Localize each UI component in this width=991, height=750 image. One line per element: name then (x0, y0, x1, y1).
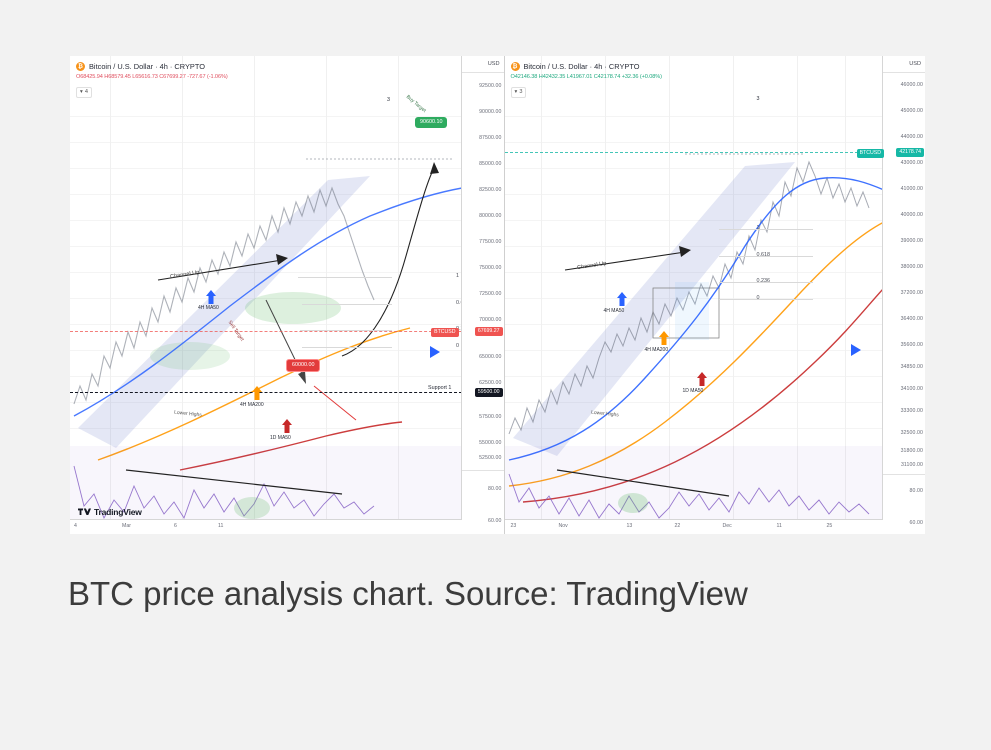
left-price-badge-value: 67699.27 (478, 328, 500, 334)
right-price-badge-value: 42178.74 (899, 149, 921, 155)
right-xtick: Dec (723, 523, 732, 529)
fib-label-0-right: 0 (757, 295, 760, 301)
right-ytick: 35600.00 (901, 342, 923, 348)
left-close: C67699.27 (159, 74, 185, 80)
left-ytick: 62500.00 (479, 380, 501, 386)
ma50-4h-marker-icon (206, 290, 216, 304)
ma50-4h-label: 4H MA50 (198, 305, 219, 311)
right-ohlc-row: O42146.38 H42432.35 L41967.01 C42178.74 … (511, 74, 662, 80)
left-xtick: 4 (74, 523, 77, 529)
right-change-pct: (+0.08%) (640, 74, 662, 80)
left-open: O68425.94 (76, 74, 103, 80)
left-chart-header: ₿ Bitcoin / U.S. Dollar · 4h · CRYPTO O6… (76, 62, 228, 98)
right-symbol-text: Bitcoin / U.S. Dollar · 4h · CRYPTO (524, 62, 640, 71)
right-ytick: 45000.00 (901, 108, 923, 114)
ma200-4h-label-right: 4H MA200 (645, 347, 669, 353)
right-open: O42146.38 (511, 74, 538, 80)
right-price-axis[interactable]: USD 46000.00 45000.00 44000.00 43000.00 … (882, 56, 925, 534)
left-ytick: 92500.00 (479, 83, 501, 89)
tradingview-chart-image: 1 0.618 0.236 0 Channel Up Lower Highs 3… (70, 56, 925, 534)
left-ytick: 72500.00 (479, 291, 501, 297)
right-ytick: 43000.00 (901, 160, 923, 166)
tradingview-watermark: TradingView (78, 507, 142, 517)
right-xtick: 13 (627, 523, 633, 529)
left-ytick: 85000.00 (479, 161, 501, 167)
left-ytick: 52500.00 (479, 455, 501, 461)
left-change: -727.67 (187, 74, 205, 80)
right-price-badge[interactable]: BTCUSD 42178.74 (896, 148, 924, 157)
left-ytick: 82500.00 (479, 187, 501, 193)
ma200-4h-marker-icon (252, 386, 262, 400)
left-ytick: 77500.00 (479, 239, 501, 245)
bitcoin-icon: ₿ (511, 62, 520, 71)
fib-label-1-right: 1 (757, 225, 760, 231)
ma50-1d-marker-icon (282, 419, 292, 433)
fib-label-1: 1 (456, 273, 459, 279)
right-chart-plot[interactable]: 1 0.618 0.236 0 Channel Up Lower Highs 3… (505, 56, 884, 534)
left-price-badge-symbol: BTCUSD (431, 328, 458, 337)
left-price-axis[interactable]: USD 92500.00 90000.00 87500.00 85000.00 … (461, 56, 504, 534)
left-timeframe-value: 4 (85, 89, 88, 95)
projection-point-label-right: 3 (757, 96, 760, 102)
right-chart-panel[interactable]: 1 0.618 0.236 0 Channel Up Lower Highs 3… (505, 56, 926, 534)
right-axis-unit: USD (909, 61, 921, 67)
right-ytick: 31100.00 (901, 462, 923, 468)
right-timeframe-value: 3 (519, 89, 522, 95)
play-button-icon[interactable] (426, 344, 442, 360)
right-close: C42178.74 (594, 74, 620, 80)
left-symbol-text: Bitcoin / U.S. Dollar · 4h · CRYPTO (89, 62, 205, 71)
left-ytick: 80000.00 (479, 213, 501, 219)
right-ytick: 41000.00 (901, 186, 923, 192)
right-rsi-tick: 60.00 (910, 520, 923, 526)
left-chart-panel[interactable]: 1 0.618 0.236 0 Channel Up Lower Highs 3… (70, 56, 505, 534)
sell-target-badge[interactable]: 60000.00 (286, 359, 320, 372)
image-caption: BTC price analysis chart. Source: Tradin… (68, 568, 828, 619)
fib-label-0618-right: 0.618 (757, 252, 771, 258)
left-ohlc-row: O68425.94 H68579.45 L65616.73 C67699.27 … (76, 74, 228, 80)
right-high: H42432.35 (539, 74, 565, 80)
right-timeframe-button[interactable]: ▾ 3 (511, 87, 527, 98)
left-change-pct: (-1.06%) (207, 74, 228, 80)
channel-up-band (70, 56, 462, 520)
play-button-icon-right[interactable] (847, 342, 863, 358)
left-rsi-tick: 80.00 (488, 486, 501, 492)
ma50-1d-label: 1D MA50 (270, 435, 291, 441)
ma200-4h-label: 4H MA200 (240, 402, 264, 408)
right-rsi-tick: 80.00 (910, 488, 923, 494)
right-ytick: 37200.00 (901, 290, 923, 296)
right-ytick: 32500.00 (901, 430, 923, 436)
buy-target-badge[interactable]: 90600.10 (415, 117, 447, 128)
right-xtick: 11 (777, 523, 782, 529)
right-ytick: 38000.00 (901, 264, 923, 270)
right-xtick: 25 (827, 523, 833, 529)
right-change: +32.36 (622, 74, 639, 80)
left-ytick: 65000.00 (479, 354, 501, 360)
left-ytick: 57500.00 (479, 414, 501, 420)
right-xtick: 23 (511, 523, 517, 529)
left-ytick: 75000.00 (479, 265, 501, 271)
left-ytick: 87500.00 (479, 135, 501, 141)
tradingview-watermark-text: TradingView (94, 507, 142, 517)
right-ytick: 39000.00 (901, 238, 923, 244)
right-ytick: 44000.00 (901, 134, 923, 140)
chevron-down-icon: ▾ (80, 89, 83, 95)
left-low: L65616.73 (132, 74, 158, 80)
right-xtick: 22 (675, 523, 681, 529)
projection-point-label: 3 (387, 97, 390, 103)
right-ytick: 40000.00 (901, 212, 923, 218)
bitcoin-icon: ₿ (76, 62, 85, 71)
right-time-axis[interactable]: 23 Nov 13 22 Dec 11 25 (505, 519, 884, 534)
page-root: 1 0.618 0.236 0 Channel Up Lower Highs 3… (0, 0, 991, 750)
chevron-down-icon: ▾ (515, 89, 518, 95)
right-chart-svg (505, 56, 884, 520)
left-axis-unit: USD (488, 61, 500, 67)
fib-label-0: 0 (456, 343, 459, 349)
left-xtick: Mar (122, 523, 131, 529)
left-xtick: 11 (218, 523, 223, 529)
ma50-1d-label-right: 1D MA50 (683, 388, 704, 394)
left-rsi-tick: 60.00 (488, 518, 501, 524)
left-timeframe-button[interactable]: ▾ 4 (76, 87, 92, 98)
left-ytick: 90000.00 (479, 109, 501, 115)
support-1-label: Support 1 (428, 385, 451, 391)
left-high: H68579.45 (104, 74, 130, 80)
right-ytick: 36400.00 (901, 316, 923, 322)
right-ytick: 34100.00 (901, 386, 923, 392)
left-time-axis[interactable]: 4 Mar 6 11 (70, 519, 462, 534)
right-ytick: 46000.00 (901, 82, 923, 88)
ma200-4h-marker-icon-right (659, 331, 669, 345)
right-ytick: 31800.00 (901, 448, 923, 454)
left-xtick: 6 (174, 523, 177, 529)
fib-label-0236-right: 0.236 (757, 278, 771, 284)
right-chart-header: ₿ Bitcoin / U.S. Dollar · 4h · CRYPTO O4… (511, 62, 662, 98)
right-ytick: 34850.00 (901, 364, 923, 370)
ma50-1d-marker-icon-right (697, 372, 707, 386)
ma50-4h-label-right: 4H MA50 (604, 308, 625, 314)
left-ytick: 70000.00 (479, 317, 501, 323)
right-price-badge-symbol: BTCUSD (857, 149, 884, 158)
right-ytick: 33300.00 (901, 408, 923, 414)
right-xtick: Nov (559, 523, 568, 529)
left-symbol-title[interactable]: ₿ Bitcoin / U.S. Dollar · 4h · CRYPTO (76, 62, 228, 71)
left-support-badge[interactable]: 59500.00 (475, 388, 503, 397)
left-price-badge[interactable]: BTCUSD 67699.27 (475, 327, 503, 336)
tradingview-logo-icon (78, 508, 91, 517)
left-chart-plot[interactable]: 1 0.618 0.236 0 Channel Up Lower Highs 3… (70, 56, 462, 534)
left-ytick: 55000.00 (479, 440, 501, 446)
right-symbol-title[interactable]: ₿ Bitcoin / U.S. Dollar · 4h · CRYPTO (511, 62, 662, 71)
right-low: L41967.01 (567, 74, 593, 80)
ma50-4h-marker-icon-right (617, 292, 627, 306)
